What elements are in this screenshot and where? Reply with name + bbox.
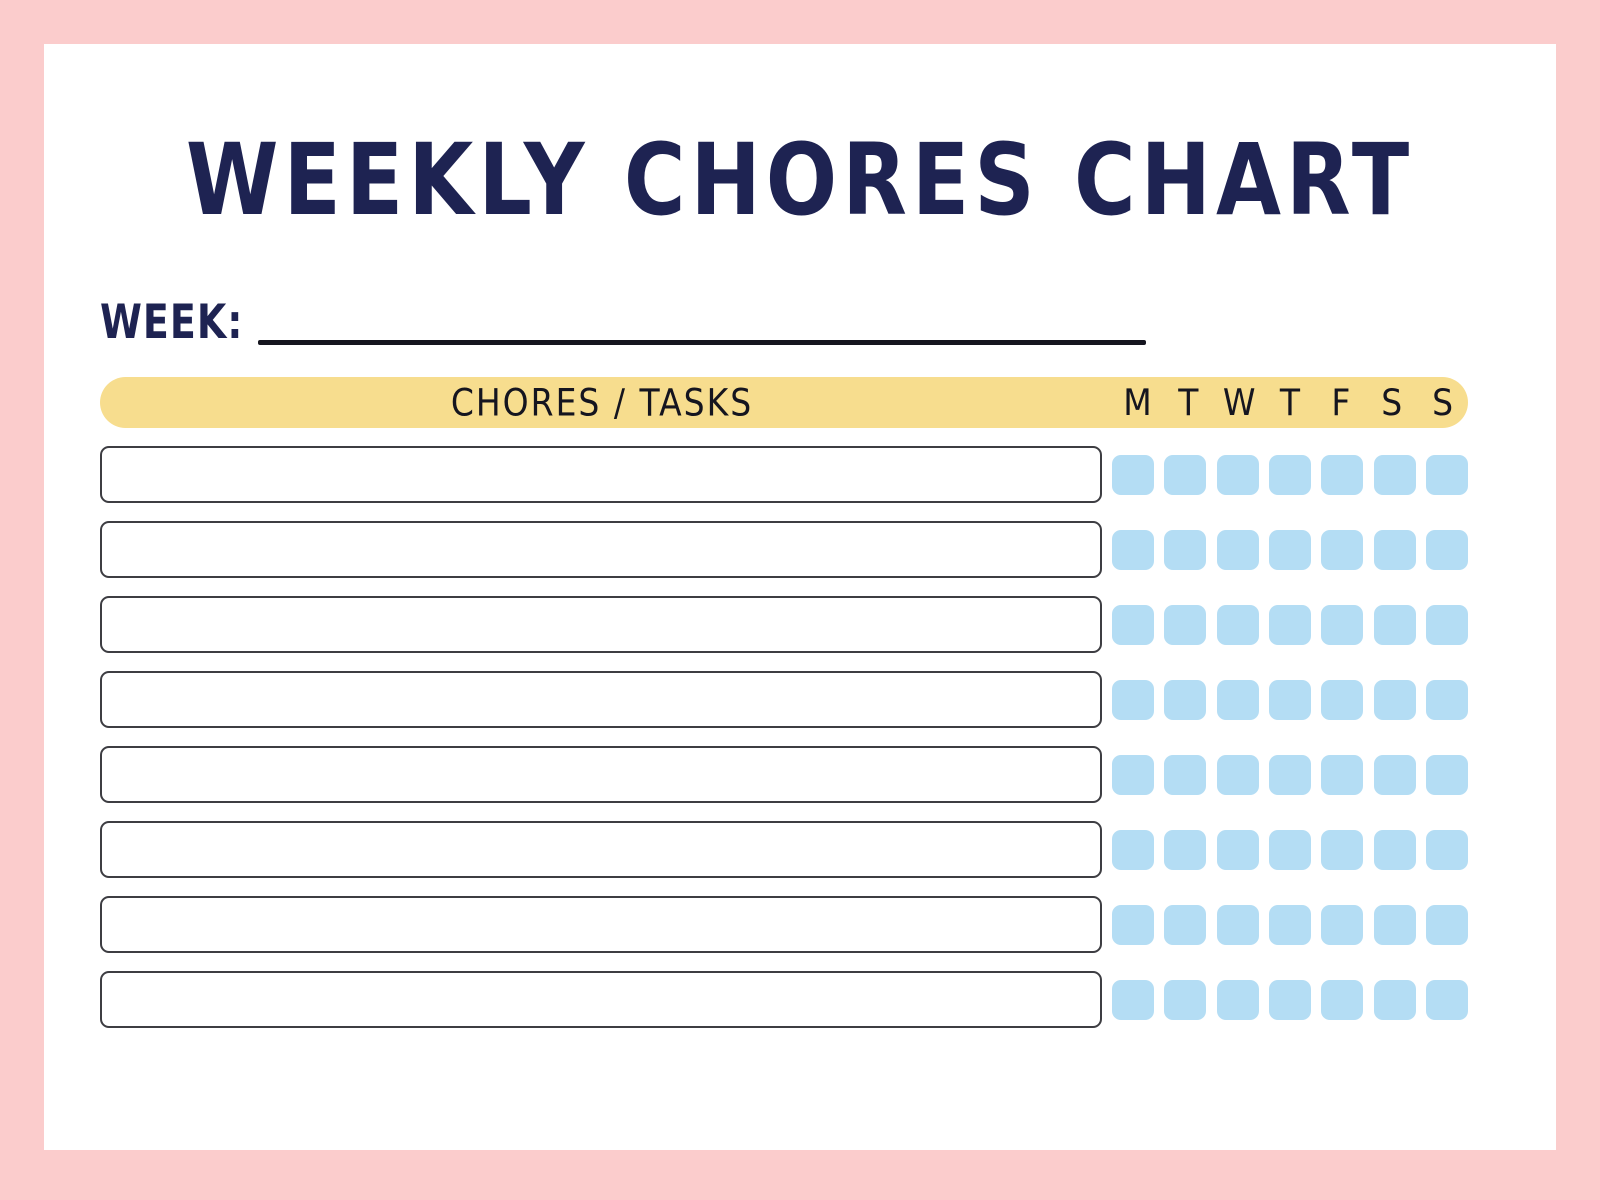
table-row <box>100 746 1468 803</box>
checkbox-row3-day1[interactable] <box>1164 680 1206 720</box>
chores-tasks-column-header: CHORES / TASKS <box>100 374 1104 431</box>
checkbox-row5-day4[interactable] <box>1321 830 1363 870</box>
table-row <box>100 971 1468 1028</box>
checkbox-row2-day4[interactable] <box>1321 605 1363 645</box>
checkbox-row1-day4[interactable] <box>1321 530 1363 570</box>
table-row <box>100 821 1468 878</box>
checkbox-row2-day6[interactable] <box>1426 605 1468 645</box>
checkbox-row3-day2[interactable] <box>1217 680 1259 720</box>
day-header-6: S <box>1417 381 1468 424</box>
checkbox-row5-day5[interactable] <box>1374 830 1416 870</box>
checkbox-row6-day1[interactable] <box>1164 905 1206 945</box>
checkbox-row6-day2[interactable] <box>1217 905 1259 945</box>
checkbox-row6-day5[interactable] <box>1374 905 1416 945</box>
task-input-0[interactable] <box>100 446 1102 503</box>
checkbox-row5-day0[interactable] <box>1112 830 1154 870</box>
task-input-7[interactable] <box>100 971 1102 1028</box>
checkbox-row1-day6[interactable] <box>1426 530 1468 570</box>
checkbox-row1-day2[interactable] <box>1217 530 1259 570</box>
checkbox-row6-day0[interactable] <box>1112 905 1154 945</box>
checkbox-row5-day2[interactable] <box>1217 830 1259 870</box>
checkbox-row7-day3[interactable] <box>1269 980 1311 1020</box>
checkbox-row2-day1[interactable] <box>1164 605 1206 645</box>
checkbox-row6-day4[interactable] <box>1321 905 1363 945</box>
checkbox-row6-day6[interactable] <box>1426 905 1468 945</box>
checkbox-row2-day3[interactable] <box>1269 605 1311 645</box>
day-header-4: F <box>1315 381 1366 424</box>
checkbox-row4-day1[interactable] <box>1164 755 1206 795</box>
checkbox-row4-day6[interactable] <box>1426 755 1468 795</box>
table-row <box>100 671 1468 728</box>
checkbox-row4-day0[interactable] <box>1112 755 1154 795</box>
table-row <box>100 521 1468 578</box>
table-row <box>100 896 1468 953</box>
checkbox-row0-day0[interactable] <box>1112 455 1154 495</box>
checkbox-row0-day2[interactable] <box>1217 455 1259 495</box>
week-label: WEEK: <box>100 294 243 349</box>
table-row <box>100 596 1468 653</box>
day-checkbox-group-4 <box>1112 746 1468 803</box>
checkbox-row2-day0[interactable] <box>1112 605 1154 645</box>
checkbox-row7-day2[interactable] <box>1217 980 1259 1020</box>
task-input-6[interactable] <box>100 896 1102 953</box>
day-header-1: T <box>1163 381 1214 424</box>
checkbox-row0-day5[interactable] <box>1374 455 1416 495</box>
checkbox-row7-day4[interactable] <box>1321 980 1363 1020</box>
table-header-bar: CHORES / TASKS MTWTFSS <box>100 377 1468 428</box>
day-checkbox-group-3 <box>1112 671 1468 728</box>
checkbox-row3-day3[interactable] <box>1269 680 1311 720</box>
week-field-row: WEEK: <box>100 294 1160 364</box>
day-header-0: M <box>1112 381 1163 424</box>
checkbox-row1-day3[interactable] <box>1269 530 1311 570</box>
table-row <box>100 446 1468 503</box>
checkbox-row4-day5[interactable] <box>1374 755 1416 795</box>
checkbox-row0-day1[interactable] <box>1164 455 1206 495</box>
day-header-3: T <box>1265 381 1316 424</box>
checkbox-row6-day3[interactable] <box>1269 905 1311 945</box>
week-input-line[interactable] <box>258 340 1146 345</box>
checkbox-row5-day1[interactable] <box>1164 830 1206 870</box>
checkbox-row3-day0[interactable] <box>1112 680 1154 720</box>
checkbox-row5-day6[interactable] <box>1426 830 1468 870</box>
day-checkbox-group-5 <box>1112 821 1468 878</box>
page-frame: WEEKLY CHORES CHART WEEK: CHORES / TASKS… <box>0 0 1600 1200</box>
day-header-5: S <box>1366 381 1417 424</box>
day-checkbox-group-6 <box>1112 896 1468 953</box>
checkbox-row0-day4[interactable] <box>1321 455 1363 495</box>
checkbox-row0-day3[interactable] <box>1269 455 1311 495</box>
checkbox-row3-day6[interactable] <box>1426 680 1468 720</box>
day-header-2: W <box>1214 381 1265 424</box>
checkbox-row3-day5[interactable] <box>1374 680 1416 720</box>
checkbox-row3-day4[interactable] <box>1321 680 1363 720</box>
task-input-5[interactable] <box>100 821 1102 878</box>
checkbox-row2-day5[interactable] <box>1374 605 1416 645</box>
chore-rows-container <box>100 446 1468 1046</box>
checkbox-row1-day0[interactable] <box>1112 530 1154 570</box>
checkbox-row1-day1[interactable] <box>1164 530 1206 570</box>
checkbox-row2-day2[interactable] <box>1217 605 1259 645</box>
task-input-2[interactable] <box>100 596 1102 653</box>
checkbox-row7-day6[interactable] <box>1426 980 1468 1020</box>
checkbox-row7-day5[interactable] <box>1374 980 1416 1020</box>
checkbox-row5-day3[interactable] <box>1269 830 1311 870</box>
checkbox-row4-day2[interactable] <box>1217 755 1259 795</box>
task-input-4[interactable] <box>100 746 1102 803</box>
chart-sheet: WEEKLY CHORES CHART WEEK: CHORES / TASKS… <box>44 44 1556 1150</box>
day-checkbox-group-0 <box>1112 446 1468 503</box>
day-headers: MTWTFSS <box>1112 377 1468 428</box>
task-input-3[interactable] <box>100 671 1102 728</box>
checkbox-row4-day3[interactable] <box>1269 755 1311 795</box>
task-input-1[interactable] <box>100 521 1102 578</box>
page-title: WEEKLY CHORES CHART <box>44 122 1556 238</box>
checkbox-row7-day1[interactable] <box>1164 980 1206 1020</box>
day-checkbox-group-2 <box>1112 596 1468 653</box>
day-checkbox-group-1 <box>1112 521 1468 578</box>
checkbox-row0-day6[interactable] <box>1426 455 1468 495</box>
checkbox-row4-day4[interactable] <box>1321 755 1363 795</box>
checkbox-row7-day0[interactable] <box>1112 980 1154 1020</box>
day-checkbox-group-7 <box>1112 971 1468 1028</box>
checkbox-row1-day5[interactable] <box>1374 530 1416 570</box>
